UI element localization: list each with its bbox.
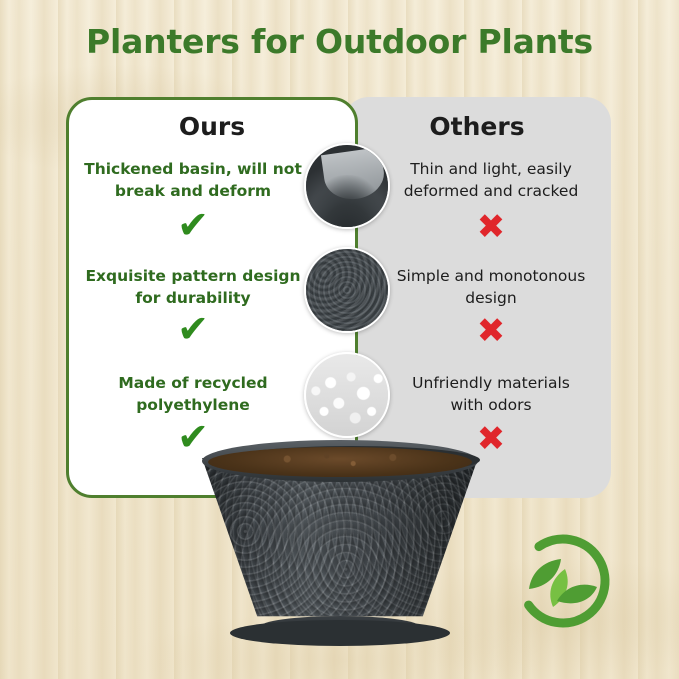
cross-icon: ✖	[366, 210, 616, 244]
check-icon: ✔	[68, 206, 318, 244]
ours-heading: Ours	[66, 112, 358, 141]
planter-body	[202, 458, 478, 630]
pattern-texture-closeup	[304, 247, 390, 333]
planter-soil	[208, 447, 472, 477]
cross-icon: ✖	[366, 314, 616, 348]
ours-feature-3-text: Made of recycled polyethylene	[68, 372, 318, 416]
check-icon: ✔	[68, 310, 318, 348]
others-feature-2-text: Simple and monotonous design	[366, 265, 616, 309]
dark-grey-planter-with-saucer	[190, 440, 490, 660]
page-title: Planters for Outdoor Plants	[0, 22, 679, 61]
recycled-pellets-closeup	[304, 352, 390, 438]
recycle-leaf-logo	[513, 531, 613, 631]
thickened-basin-closeup	[304, 143, 390, 229]
others-feature-1-text: Thin and light, easily deformed and crac…	[366, 158, 616, 202]
ours-feature-2-text: Exquisite pattern design for durability	[68, 265, 318, 309]
others-feature-3-text: Unfriendly materials with odors	[366, 372, 616, 416]
ours-feature-1-text: Thickened basin, will not break and defo…	[68, 158, 318, 202]
planter-saucer-top	[230, 620, 450, 646]
others-heading: Others	[343, 112, 611, 141]
